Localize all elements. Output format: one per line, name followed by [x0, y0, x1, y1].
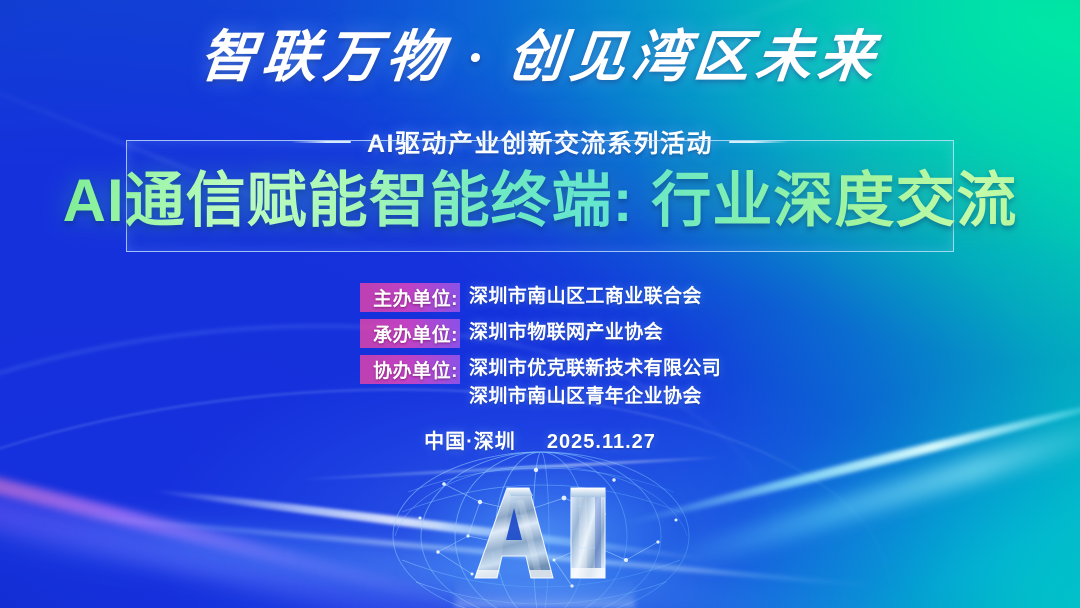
calligraphy-headline: 智联万物 · 创见湾区未来	[0, 30, 1080, 86]
organizer-values: 深圳市优克联新技术有限公司 深圳市南山区青年企业协会	[460, 355, 721, 411]
organizer-row: 主办单位: 深圳市南山区工商业联合会	[360, 283, 720, 312]
organizer-values: 深圳市物联网产业协会	[460, 319, 720, 347]
organizer-row: 承办单位: 深圳市物联网产业协会	[360, 319, 720, 348]
organizer-label: 协办单位:	[360, 355, 460, 384]
organizer-value: 深圳市优克联新技术有限公司	[469, 355, 721, 383]
organizer-label: 主办单位:	[360, 283, 460, 312]
organizer-label: 承办单位:	[360, 319, 460, 348]
event-location: 中国·深圳	[424, 431, 516, 453]
event-date: 2025.11.27	[547, 431, 656, 453]
organizer-row: 协办单位: 深圳市优克联新技术有限公司 深圳市南山区青年企业协会	[360, 355, 720, 411]
organizer-value: 深圳市南山区工商业联合会	[469, 283, 720, 311]
organizer-value: 深圳市南山区青年企业协会	[469, 383, 721, 411]
event-poster: 智联万物 · 创见湾区未来 AI驱动产业创新交流系列活动 AI通信赋能智能终端:…	[0, 0, 1080, 608]
organizer-value: 深圳市物联网产业协会	[469, 319, 720, 347]
organizer-block: 主办单位: 深圳市南山区工商业联合会 承办单位: 深圳市物联网产业协会 协办单位…	[0, 283, 1080, 411]
event-datetime-row: 中国·深圳 2025.11.27	[0, 425, 1080, 454]
page-title: AI通信赋能智能终端: 行业深度交流	[0, 168, 1080, 234]
organizer-values: 深圳市南山区工商业联合会	[460, 283, 720, 311]
